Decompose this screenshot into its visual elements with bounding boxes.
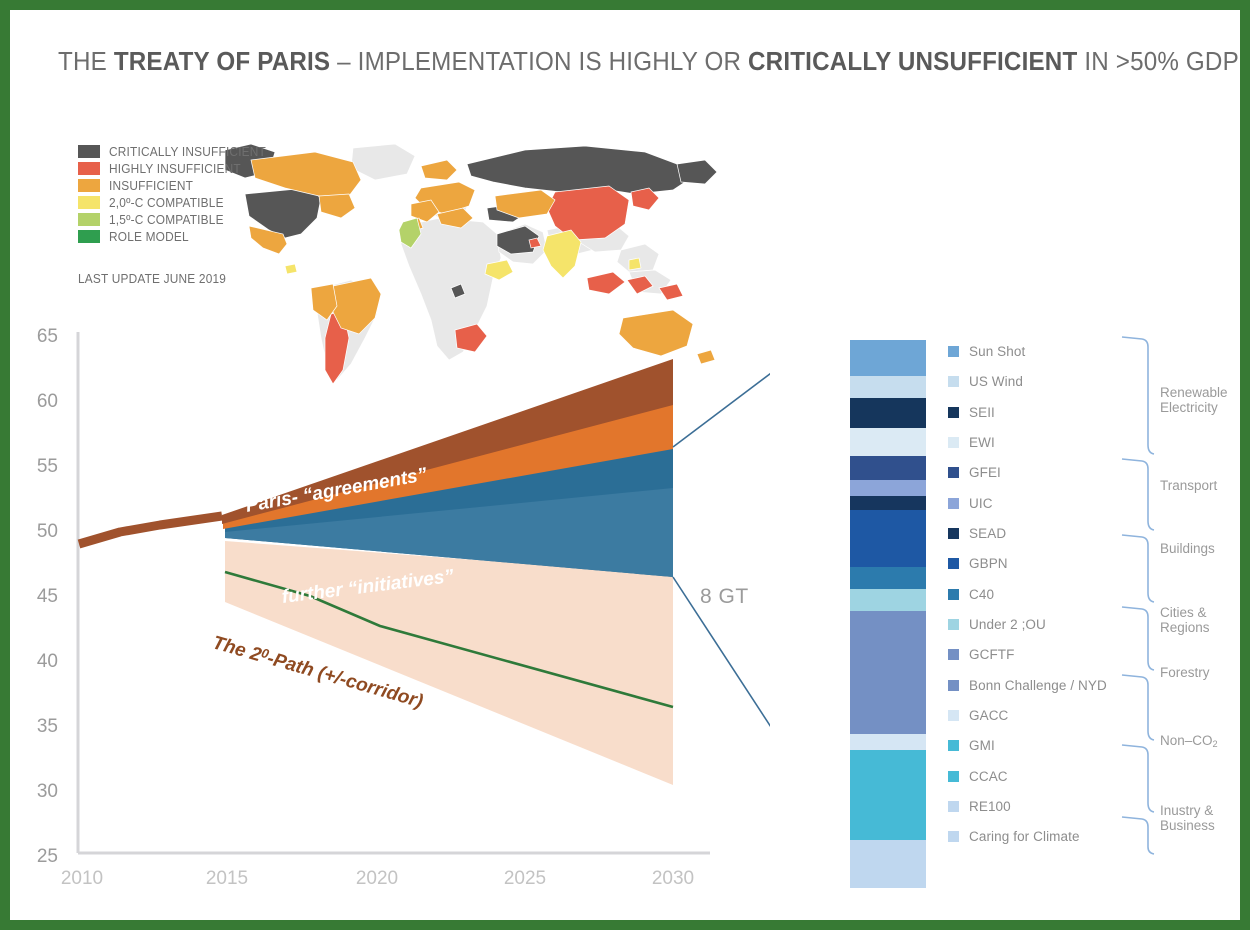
bar-segment-gfei [850,456,926,480]
map-legend-item: CRITICALLY INSUFFICIENT [78,143,274,160]
bar-segment-sun-shot [850,340,926,376]
map-legend: CRITICALLY INSUFFICIENT HIGHLY INSUFFICI… [78,143,274,245]
bar-segment-gmi [850,750,926,795]
bar-segment-gbpn [850,510,926,567]
legend-swatch-highly-insufficient [78,162,100,175]
bar-legend-item: SEII [948,405,995,420]
title-bold-treaty-of-paris: TREATY OF PARIS [114,46,330,76]
bar-segment-gcftf [850,611,926,671]
bar-segment-ewi [850,428,926,456]
bar-segment-caring-for-climate [850,865,926,888]
map-legend-item: INSUFFICIENT [78,177,274,194]
title-part-2: – IMPLEMENTATION IS HIGHLY OR [330,46,748,76]
chart-plot-area [10,310,770,910]
bar-legend-label-ccac: CCAC [969,769,1008,784]
bar-legend-item: GMI [948,738,995,753]
bracket-transport [1122,459,1154,530]
sector-label-forestry: Forestry [1160,665,1210,680]
bar-legend-swatch-sead [948,528,959,539]
bar-legend-label-c40: C40 [969,587,994,602]
bar-legend-item: GFEI [948,465,1001,480]
non-co2-subscript: 2 [1213,739,1218,749]
bar-legend-swatch-under-2-mou [948,619,959,630]
bar-legend-swatch-c40 [948,589,959,600]
bar-legend-item: CCAC [948,769,1008,784]
legend-label-2c-compatible: 2,0º-C COMPATIBLE [109,196,224,210]
bar-legend-swatch-uic [948,498,959,509]
bar-legend-swatch-re100 [948,801,959,812]
bar-legend-item: C40 [948,587,994,602]
bracket-renewable-electricity [1122,337,1154,454]
legend-swatch-2c-compatible [78,196,100,209]
legend-label-role-model: ROLE MODEL [109,230,189,244]
bar-legend-label-bonn-challenge-nyd: Bonn Challenge / NYD [969,678,1107,693]
bar-segment-under-2-mou [850,589,926,611]
bar-legend-item: Bonn Challenge / NYD [948,678,1107,693]
legend-label-insufficient: INSUFFICIENT [109,179,193,193]
bar-legend-item: GACC [948,708,1008,723]
bracket-forestry [1122,675,1154,740]
bar-legend-item: Sun Shot [948,344,1025,359]
bar-legend-label-gbpn: GBPN [969,556,1008,571]
bar-legend-label-gfei: GFEI [969,465,1001,480]
bar-legend-item: US Wind [948,374,1023,389]
sector-label-buildings: Buildings [1160,541,1215,556]
bar-legend-label-gacc: GACC [969,708,1008,723]
initiatives-stacked-bar [850,340,926,888]
sector-label-inustry-business: Inustry & Business [1160,803,1215,833]
sector-label-non-co2: Non–CO2 [1160,733,1218,752]
bar-legend-item: GCFTF [948,647,1015,662]
map-legend-item: 2,0º-C COMPATIBLE [78,194,274,211]
legend-swatch-insufficient [78,179,100,192]
title-part-1: THE [58,46,114,76]
bar-legend-label-uic: UIC [969,496,993,511]
sector-brackets: Renewable Electricity Transport Building… [1118,335,1240,855]
connector-line-top [673,315,770,447]
bar-legend-label-gcftf: GCFTF [969,647,1015,662]
legend-swatch-critically-insufficient [78,145,100,158]
bracket-buildings [1122,535,1154,602]
bar-legend-item: SEAD [948,526,1006,541]
bar-segment-re100 [850,840,926,865]
page-title: THE TREATY OF PARIS – IMPLEMENTATION IS … [58,46,1239,77]
connector-line-bottom [673,577,770,845]
map-last-update-note: LAST UPDATE JUNE 2019 [78,272,226,286]
bar-legend-item: EWI [948,435,995,450]
bar-legend-label-seii: SEII [969,405,995,420]
bar-legend-label-caring-for-climate: Caring for Climate [969,829,1080,844]
bar-legend-label-us-wind: US Wind [969,374,1023,389]
bar-segment-uic [850,480,926,496]
bar-legend-swatch-sun-shot [948,346,959,357]
bar-legend-item: Under 2 ;OU [948,617,1046,632]
map-legend-item: ROLE MODEL [78,228,274,245]
bar-legend-label-under-2-mou: Under 2 ;OU [969,617,1046,632]
bar-segment-ccac [850,795,926,840]
bar-legend-swatch-us-wind [948,376,959,387]
bar-legend-label-re100: RE100 [969,799,1011,814]
legend-swatch-role-model [78,230,100,243]
bar-legend-item: GBPN [948,556,1008,571]
sector-label-transport: Transport [1160,478,1217,493]
bar-legend-label-gmi: GMI [969,738,995,753]
bar-legend-swatch-bonn-challenge-nyd [948,680,959,691]
bracket-inustry-business [1122,817,1154,854]
title-bold-critically-unsufficient: CRITICALLY UNSUFFICIENT [748,46,1077,76]
map-legend-item: 1,5º-C COMPATIBLE [78,211,274,228]
bar-legend-label-sun-shot: Sun Shot [969,344,1025,359]
bar-legend-swatch-gcftf [948,649,959,660]
infographic-canvas: THE TREATY OF PARIS – IMPLEMENTATION IS … [10,10,1240,920]
bar-segment-seii [850,398,926,428]
bar-legend-swatch-gmi [948,740,959,751]
legend-swatch-1-5c-compatible [78,213,100,226]
bar-legend-swatch-seii [948,407,959,418]
bar-legend-swatch-gbpn [948,558,959,569]
bar-segment-sead [850,496,926,510]
sector-label-cities-regions: Cities & Regions [1160,605,1210,635]
bar-legend-label-ewi: EWI [969,435,995,450]
bar-legend-item: RE100 [948,799,1011,814]
title-part-3: IN >50% GDP [1077,46,1238,76]
bracket-non-co2 [1122,745,1154,812]
legend-label-1-5c-compatible: 1,5º-C COMPATIBLE [109,213,224,227]
gap-label-8gt: 8 GT [700,585,749,609]
emissions-chart: 65 60 55 50 45 40 35 30 25 2010 2015 202… [10,310,770,910]
bar-legend-item: Caring for Climate [948,829,1080,844]
bar-legend-item: UIC [948,496,993,511]
bar-segment-gacc [850,734,926,750]
bar-legend-swatch-gacc [948,710,959,721]
bar-segment-bonn-challenge-nyd [850,671,926,734]
bar-segment-us-wind [850,376,926,398]
bar-legend-label-sead: SEAD [969,526,1006,541]
series-historical-line [79,516,222,544]
bar-segment-c40 [850,567,926,589]
bar-legend-swatch-ccac [948,771,959,782]
sector-label-renewable-electricity: Renewable Electricity [1160,385,1228,415]
legend-label-critically-insufficient: CRITICALLY INSUFFICIENT [109,145,266,159]
legend-label-highly-insufficient: HIGHLY INSUFFICIENT [109,162,241,176]
map-legend-item: HIGHLY INSUFFICIENT [78,160,274,177]
bracket-cities-regions [1122,607,1154,670]
bar-legend-swatch-gfei [948,467,959,478]
bar-legend-swatch-caring-for-climate [948,831,959,842]
bar-legend-swatch-ewi [948,437,959,448]
